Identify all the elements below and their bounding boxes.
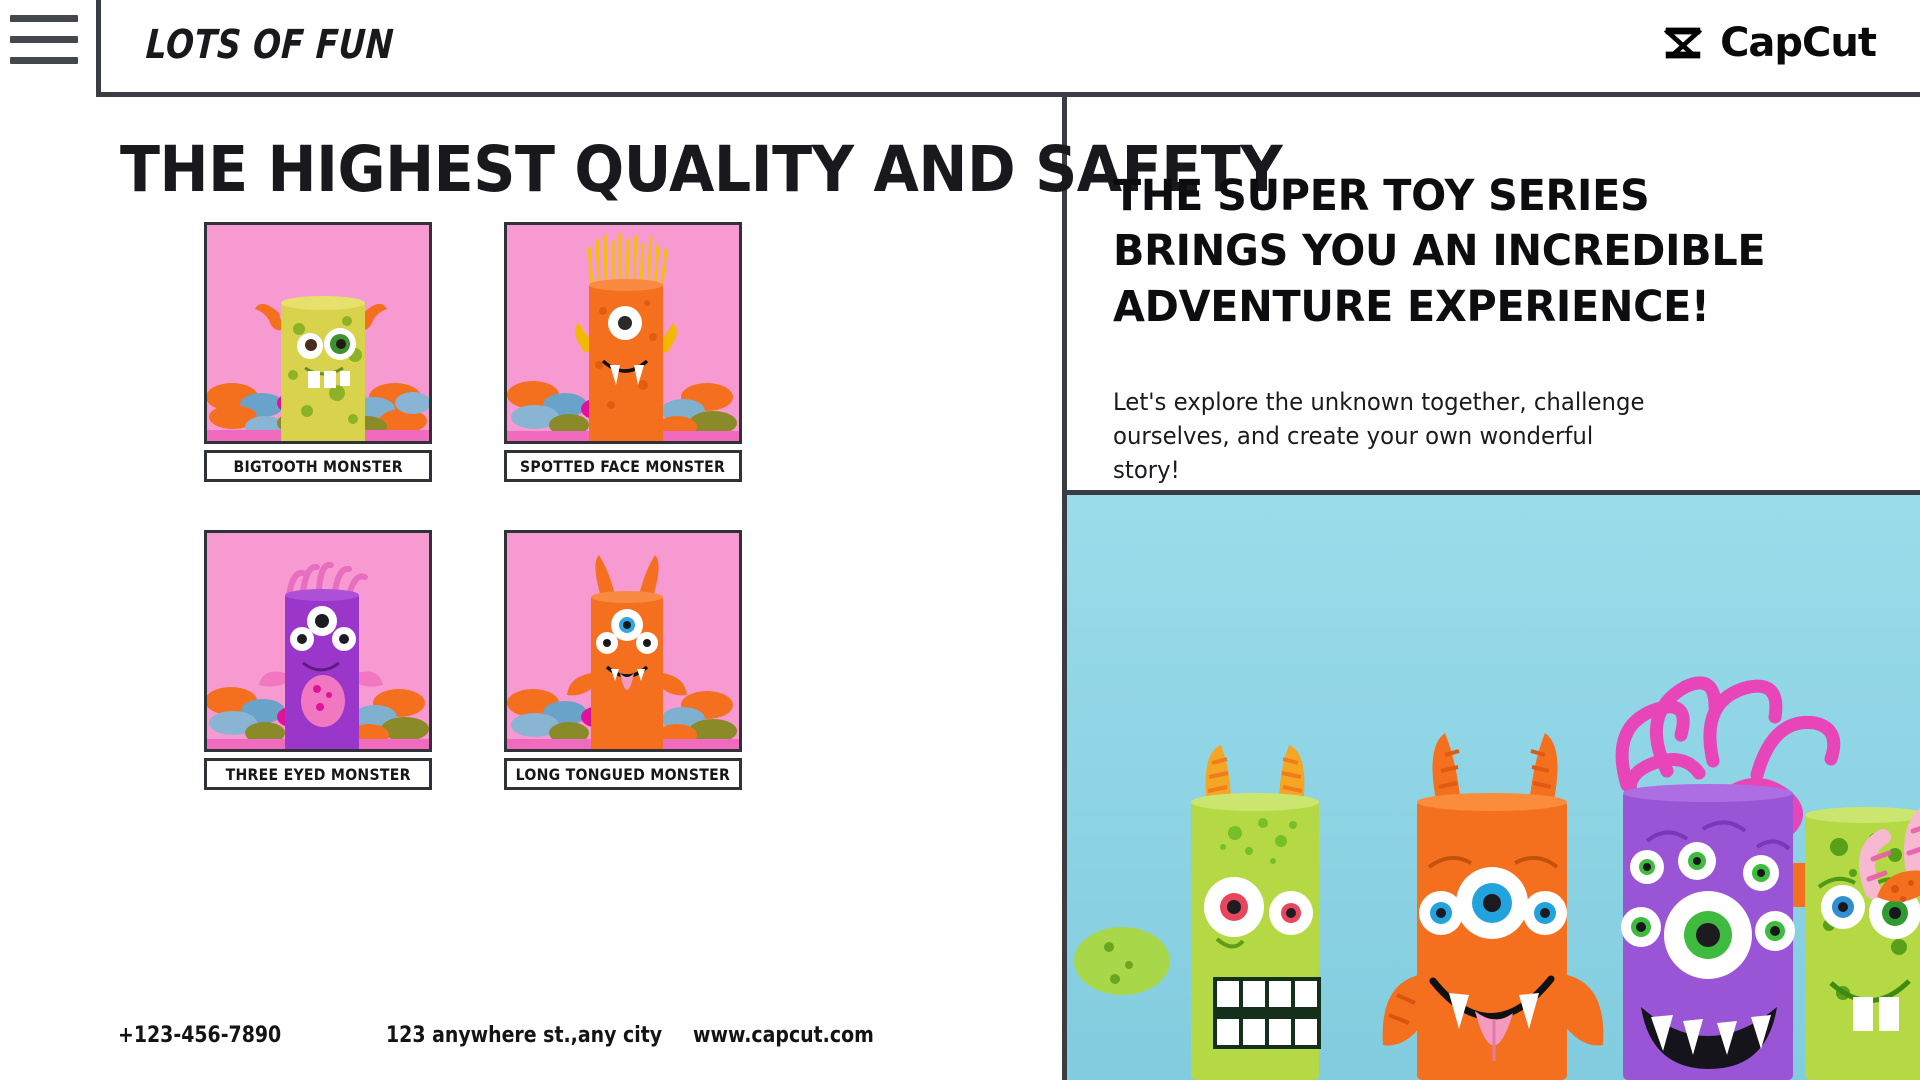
capcut-logo[interactable]: CapCut [1660,20,1876,66]
product-card[interactable]: LONG TONGUED MONSTER [504,530,742,790]
product-photo [504,530,742,752]
product-photo [204,222,432,444]
left-column: THE HIGHEST QUALITY AND SAFETY [96,97,1062,1080]
hero-image [1067,490,1920,1080]
product-caption: LONG TONGUED MONSTER [504,758,742,790]
product-photo [204,530,432,752]
product-caption-text: THREE EYED MONSTER [225,765,410,784]
hamburger-icon[interactable] [10,12,78,67]
product-grid: BIGTOOTH MONSTER [204,222,884,790]
header-vertical-divider [96,0,101,94]
footer-address: 123 anywhere st.,any city [386,1023,662,1048]
right-column: THE SUPER TOY SERIES BRINGS YOU AN INCRE… [1067,97,1920,1080]
product-caption-text: BIGTOOTH MONSTER [233,457,402,476]
page-header: LOTS OF FUN CapCut [0,0,1920,94]
three-eyed-monster-illustration [207,533,432,752]
product-row: BIGTOOTH MONSTER [204,222,884,482]
brand-title: LOTS OF FUN [145,22,395,68]
product-card[interactable]: THREE EYED MONSTER [204,530,432,790]
long-tongued-monster-illustration [507,533,742,752]
product-caption: SPOTTED FACE MONSTER [504,450,742,482]
product-caption-text: LONG TONGUED MONSTER [516,765,730,784]
monster-group-illustration [1067,495,1920,1080]
section-heading: THE SUPER TOY SERIES BRINGS YOU AN INCRE… [1113,169,1785,335]
product-row: THREE EYED MONSTER [204,530,884,790]
spotted-face-monster-illustration [507,225,742,444]
product-photo [504,222,742,444]
footer-website[interactable]: www.capcut.com [693,1023,874,1048]
product-card[interactable]: BIGTOOTH MONSTER [204,222,432,482]
product-caption-text: SPOTTED FACE MONSTER [520,457,725,476]
footer-phone[interactable]: +123-456-7890 [118,1023,281,1048]
section-body: Let's explore the unknown together, chal… [1113,385,1645,487]
product-card[interactable]: SPOTTED FACE MONSTER [504,222,742,482]
bigtooth-monster-illustration [207,225,432,444]
poster-page: LOTS OF FUN CapCut THE HIGHEST QUALITY A… [0,0,1920,1080]
capcut-wordmark: CapCut [1720,20,1876,66]
lime-monster [1793,807,1920,1080]
capcut-hourglass-icon [1660,20,1706,66]
product-caption: BIGTOOTH MONSTER [204,450,432,482]
product-caption: THREE EYED MONSTER [204,758,432,790]
